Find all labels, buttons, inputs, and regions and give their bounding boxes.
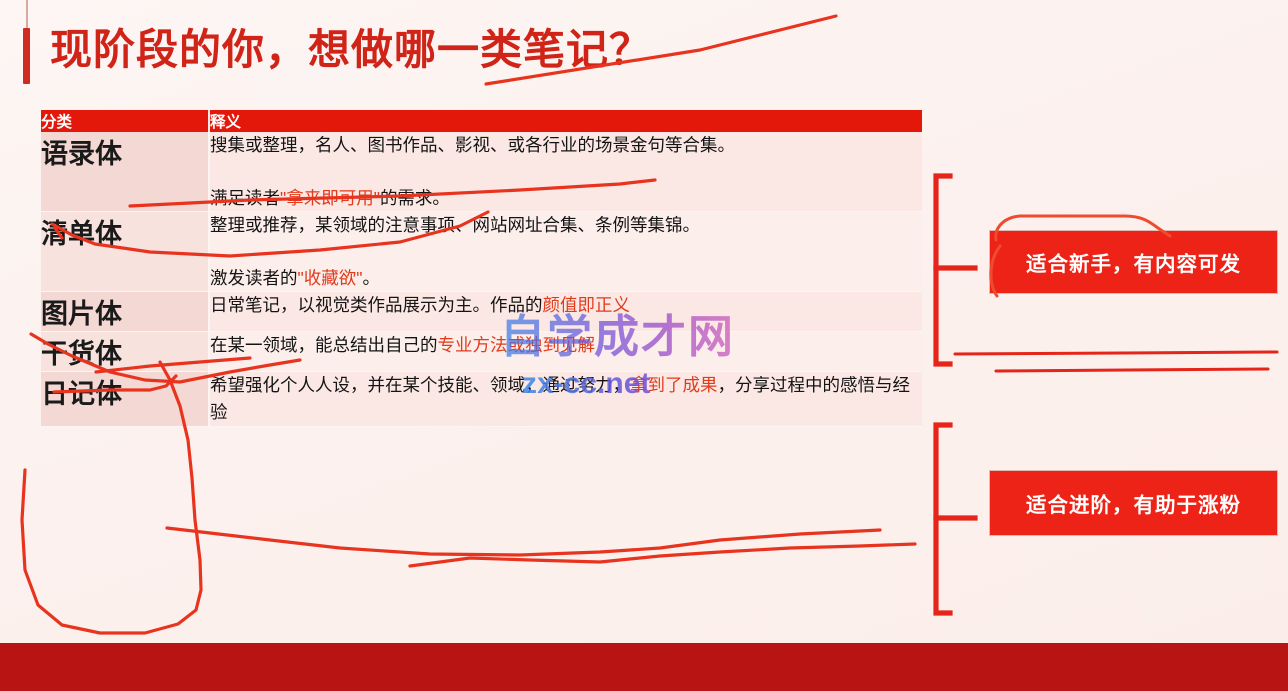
table-row: 语录体搜集或整理，名人、图书作品、影视、或各行业的场景金句等合集。满足读者"拿来… [41, 132, 922, 212]
definition-line: 满足读者"拿来即可用"的需求。 [210, 185, 922, 212]
definition-text: 搜集或整理，名人、图书作品、影视、或各行业的场景金句等合集。 [210, 135, 735, 155]
footer-band [0, 633, 1288, 691]
table-cell-category: 图片体 [41, 292, 210, 332]
definition-highlight: 拿到了成果 [630, 375, 718, 395]
definition-highlight: "收藏欲" [298, 268, 363, 288]
definition-text: 整理或推荐，某领域的注意事项、网站网址合集、条例等集锦。 [210, 215, 700, 235]
table-row: 图片体日常笔记，以视觉类作品展示为主。作品的颜值即正义 [41, 292, 922, 332]
definition-text: 日常笔记，以视觉类作品展示为主。作品的 [210, 295, 543, 315]
table-header: 分类 释义 [41, 110, 922, 132]
definition-highlight: "拿来即可用" [280, 188, 380, 208]
definition-text: 在某一领域，能总结出自己的 [210, 335, 438, 355]
definition-text: 激发读者的 [210, 268, 298, 288]
table-cell-category: 干货体 [41, 332, 210, 372]
definition-line: 希望强化个人人设，并在某个技能、领域，通过努力，拿到了成果，分享过程中的感悟与经… [210, 372, 922, 425]
table-row: 干货体在某一领域，能总结出自己的专业方法或独到见解 [41, 332, 922, 372]
definition-text: 。 [362, 268, 380, 288]
page-title: 现阶段的你，想做哪一类笔记？ [50, 24, 652, 77]
slide-canvas: 现阶段的你，想做哪一类笔记？ 分类 释义 语录体搜集或整理，名人、图书作品、影视… [0, 0, 1288, 691]
table-cell-definition: 搜集或整理，名人、图书作品、影视、或各行业的场景金句等合集。满足读者"拿来即可用… [210, 132, 922, 212]
note-type-table: 分类 释义 语录体搜集或整理，名人、图书作品、影视、或各行业的场景金句等合集。满… [41, 110, 922, 427]
column-header-definition: 释义 [210, 110, 922, 132]
definition-line: 搜集或整理，名人、图书作品、影视、或各行业的场景金句等合集。 [210, 132, 922, 159]
title-accent-bar [23, 28, 30, 84]
table-cell-category: 语录体 [41, 132, 210, 212]
table-body: 语录体搜集或整理，名人、图书作品、影视、或各行业的场景金句等合集。满足读者"拿来… [41, 132, 922, 427]
table-row: 清单体整理或推荐，某领域的注意事项、网站网址合集、条例等集锦。激发读者的"收藏欲… [41, 212, 922, 292]
definition-line: 整理或推荐，某领域的注意事项、网站网址合集、条例等集锦。 [210, 212, 922, 239]
table-cell-category: 日记体 [41, 372, 210, 426]
definition-text: 满足读者 [210, 188, 280, 208]
table-cell-category: 清单体 [41, 212, 210, 292]
table-cell-definition: 整理或推荐，某领域的注意事项、网站网址合集、条例等集锦。激发读者的"收藏欲"。 [210, 212, 922, 292]
title-accent-line [26, 0, 28, 30]
table-cell-definition: 日常笔记，以视觉类作品展示为主。作品的颜值即正义 [210, 292, 922, 332]
table-header-row: 分类 释义 [41, 110, 922, 132]
definition-highlight: 专业方法或独到见解 [438, 335, 596, 355]
definition-line: 在某一领域，能总结出自己的专业方法或独到见解 [210, 332, 922, 359]
callout-advanced: 适合进阶，有助于涨粉 [990, 471, 1277, 535]
table-cell-definition: 在某一领域，能总结出自己的专业方法或独到见解 [210, 332, 922, 372]
column-header-category: 分类 [41, 110, 210, 132]
callout-beginner: 适合新手，有内容可发 [990, 231, 1277, 293]
definition-text: 的需求。 [380, 188, 450, 208]
table-cell-definition: 希望强化个人人设，并在某个技能、领域，通过努力，拿到了成果，分享过程中的感悟与经… [210, 372, 922, 426]
definition-line: 激发读者的"收藏欲"。 [210, 265, 922, 292]
definition-text: 希望强化个人人设，并在某个技能、领域，通过努力， [210, 375, 630, 395]
table-row: 日记体希望强化个人人设，并在某个技能、领域，通过努力，拿到了成果，分享过程中的感… [41, 372, 922, 426]
definition-line: 日常笔记，以视觉类作品展示为主。作品的颜值即正义 [210, 292, 922, 319]
definition-highlight: 颜值即正义 [543, 295, 631, 315]
